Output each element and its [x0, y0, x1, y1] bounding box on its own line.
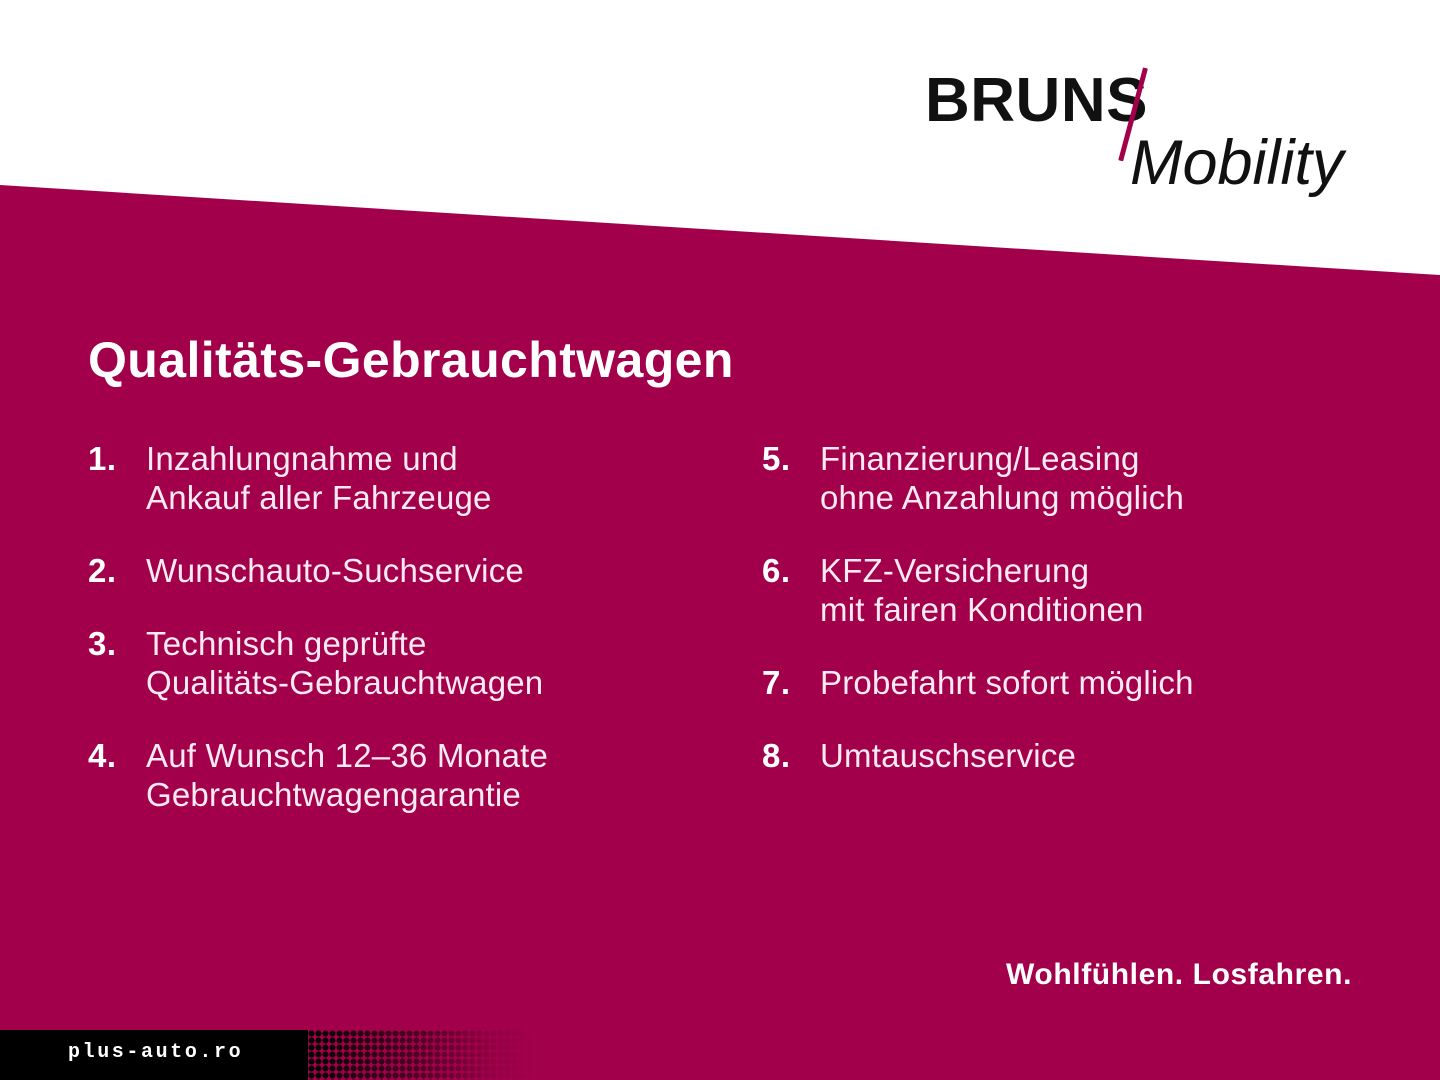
list-item-line: Gebrauchtwagengarantie [146, 776, 728, 815]
list-item-line: Auf Wunsch 12–36 Monate [146, 737, 728, 776]
list-item-number: 8. [762, 737, 820, 776]
list-item: 5. Finanzierung/Leasingohne Anzahlung mö… [762, 440, 1402, 518]
feature-list: 1. Inzahlungnahme undAnkauf aller Fahrze… [0, 440, 1440, 920]
list-item-line: ohne Anzahlung möglich [820, 479, 1402, 518]
list-item-line: Qualitäts-Gebrauchtwagen [146, 664, 728, 703]
watermark-label: plus-auto.ro [68, 1041, 243, 1064]
list-item-label: Technisch geprüfteQualitäts-Gebrauchtwag… [146, 625, 728, 703]
list-item-number: 7. [762, 664, 820, 703]
list-item-label: Auf Wunsch 12–36 MonateGebrauchtwagengar… [146, 737, 728, 815]
list-item-line: Inzahlungnahme und [146, 440, 728, 479]
page-title: Qualitäts-Gebrauchtwagen [88, 334, 734, 387]
list-item-number: 3. [88, 625, 146, 664]
feature-column-right: 5. Finanzierung/Leasingohne Anzahlung mö… [762, 440, 1402, 810]
list-item-number: 5. [762, 440, 820, 479]
list-item-line: Finanzierung/Leasing [820, 440, 1402, 479]
feature-column-left: 1. Inzahlungnahme undAnkauf aller Fahrze… [88, 440, 728, 849]
list-item: 6. KFZ-Versicherungmit fairen Konditione… [762, 552, 1402, 630]
list-item: 2. Wunschauto-Suchservice [88, 552, 728, 591]
brand-tagline: Wohlfühlen. Losfahren. [1006, 958, 1352, 992]
promo-slide: BRUNS Mobility Qualitäts-Gebrauchtwagen … [0, 0, 1440, 1080]
list-item-line: KFZ-Versicherung [820, 552, 1402, 591]
list-item-label: Finanzierung/Leasingohne Anzahlung mögli… [820, 440, 1402, 518]
list-item: 1. Inzahlungnahme undAnkauf aller Fahrze… [88, 440, 728, 518]
list-item-label: KFZ-Versicherungmit fairen Konditionen [820, 552, 1402, 630]
list-item-line: Wunschauto-Suchservice [146, 552, 728, 591]
list-item-number: 2. [88, 552, 146, 591]
list-item-label: Inzahlungnahme undAnkauf aller Fahrzeuge [146, 440, 728, 518]
list-item-line: Technisch geprüfte [146, 625, 728, 664]
list-item-line: Probefahrt sofort möglich [820, 664, 1402, 703]
halftone-fade-pattern [308, 1030, 536, 1080]
list-item: 4. Auf Wunsch 12–36 MonateGebrauchtwagen… [88, 737, 728, 815]
list-item-number: 6. [762, 552, 820, 591]
logo-secondary-text: Mobility [1130, 132, 1344, 195]
logo-primary-text: BRUNS [925, 70, 1148, 132]
brand-logo: BRUNS Mobility [925, 70, 1375, 220]
list-item: 3. Technisch geprüfteQualitäts-Gebraucht… [88, 625, 728, 703]
list-item: 8. Umtauschservice [762, 737, 1402, 776]
list-item-number: 4. [88, 737, 146, 776]
list-item: 7. Probefahrt sofort möglich [762, 664, 1402, 703]
list-item-line: Ankauf aller Fahrzeuge [146, 479, 728, 518]
list-item-label: Wunschauto-Suchservice [146, 552, 728, 591]
list-item-label: Probefahrt sofort möglich [820, 664, 1402, 703]
list-item-number: 1. [88, 440, 146, 479]
list-item-line: Umtauschservice [820, 737, 1402, 776]
list-item-line: mit fairen Konditionen [820, 591, 1402, 630]
list-item-label: Umtauschservice [820, 737, 1402, 776]
